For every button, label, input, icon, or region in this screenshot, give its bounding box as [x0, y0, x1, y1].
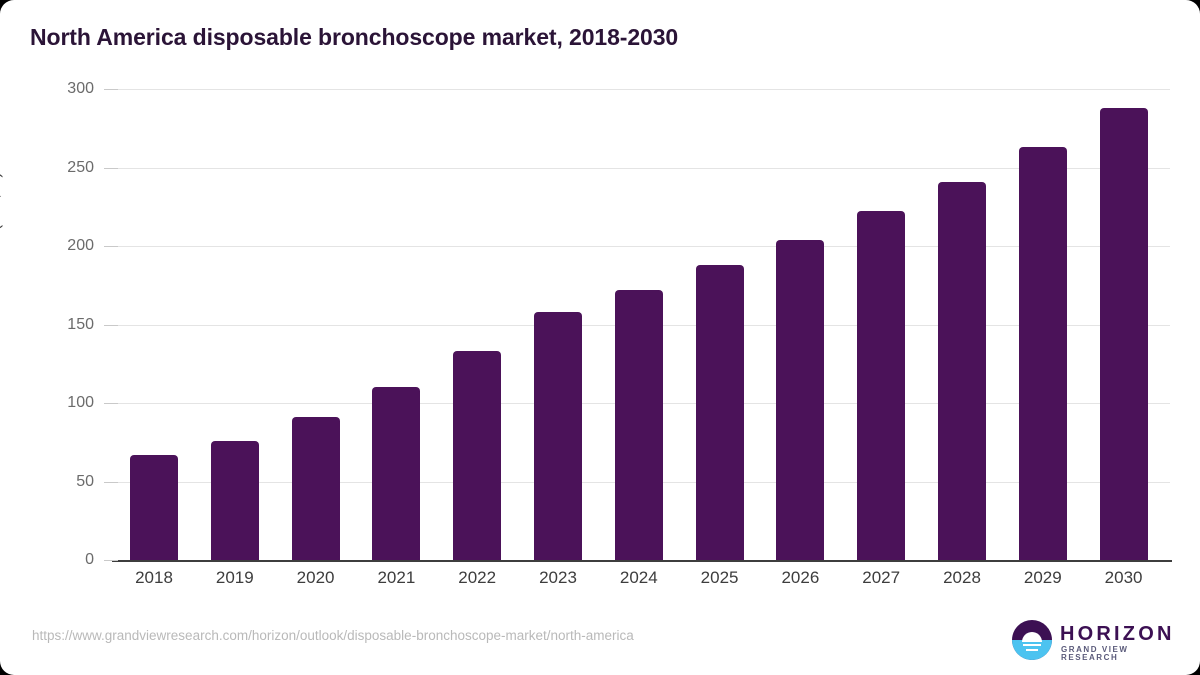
y-axis-tick-label: 50 [24, 473, 94, 491]
x-axis-tick-label: 2028 [922, 568, 1002, 588]
bar-2024[interactable] [615, 290, 663, 560]
logo-line-upper [1023, 644, 1041, 646]
bar-2022[interactable] [453, 351, 501, 560]
x-axis-tick-label: 2022 [437, 568, 517, 588]
y-axis-title: Market Size (US$M) [0, 172, 4, 325]
x-axis-tick-label: 2025 [680, 568, 760, 588]
x-axis-tick-label: 2030 [1084, 568, 1164, 588]
chart-card: North America disposable bronchoscope ma… [0, 0, 1200, 675]
y-axis-tick-mark [104, 560, 118, 561]
horizon-logo: HORIZON GRAND VIEW RESEARCH [1012, 618, 1170, 662]
bar-2019[interactable] [211, 441, 259, 560]
y-axis-tick-mark [104, 246, 118, 247]
x-axis-tick-label: 2026 [760, 568, 840, 588]
y-axis-tick-mark [104, 482, 118, 483]
logo-subtext: GRAND VIEW RESEARCH [1061, 646, 1170, 662]
logo-line-lower [1026, 649, 1038, 651]
logo-dome-shape [1022, 632, 1042, 642]
logo-wordmark: HORIZON [1060, 624, 1175, 644]
x-axis-tick-label: 2023 [518, 568, 598, 588]
gridline [118, 89, 1170, 90]
y-axis-tick-label: 150 [24, 316, 94, 334]
horizon-logo-mark-icon [1012, 620, 1052, 660]
bar-2023[interactable] [534, 312, 582, 560]
bar-2027[interactable] [857, 211, 905, 560]
y-axis-tick-label: 100 [24, 394, 94, 412]
bar-2029[interactable] [1019, 147, 1067, 560]
y-axis-tick-mark [104, 325, 118, 326]
x-axis-tick-label: 2029 [1003, 568, 1083, 588]
y-axis-tick-label: 0 [24, 551, 94, 569]
gridline [118, 168, 1170, 169]
bar-2030[interactable] [1100, 108, 1148, 560]
y-axis-tick-label: 300 [24, 80, 94, 98]
x-axis-tick-label: 2021 [356, 568, 436, 588]
x-axis-tick-label: 2020 [276, 568, 356, 588]
source-url[interactable]: https://www.grandviewresearch.com/horizo… [32, 628, 634, 643]
x-axis-line [112, 560, 1172, 562]
bar-2028[interactable] [938, 182, 986, 560]
gridline [118, 246, 1170, 247]
bar-2025[interactable] [696, 265, 744, 560]
plot-area [118, 89, 1170, 560]
bar-2021[interactable] [372, 387, 420, 560]
bar-2018[interactable] [130, 455, 178, 560]
y-axis-tick-label: 250 [24, 159, 94, 177]
y-axis-tick-label: 200 [24, 237, 94, 255]
y-axis-tick-mark [104, 403, 118, 404]
x-axis-tick-label: 2024 [599, 568, 679, 588]
y-axis-tick-mark [104, 168, 118, 169]
bar-2020[interactable] [292, 417, 340, 560]
x-axis-tick-label: 2027 [841, 568, 921, 588]
y-axis-tick-mark [104, 89, 118, 90]
x-axis-tick-label: 2019 [195, 568, 275, 588]
bar-2026[interactable] [776, 240, 824, 560]
page-title: North America disposable bronchoscope ma… [30, 24, 678, 51]
x-axis-tick-label: 2018 [114, 568, 194, 588]
